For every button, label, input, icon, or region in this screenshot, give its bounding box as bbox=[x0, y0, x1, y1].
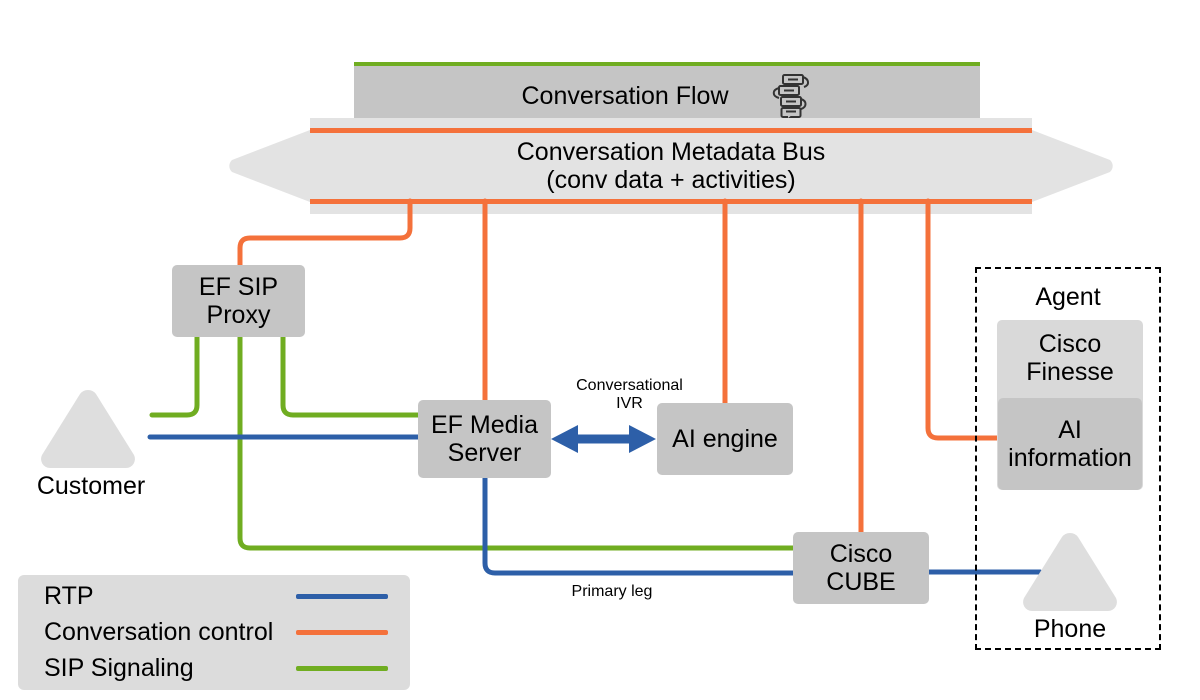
conversation-flow-label: Conversation Flow bbox=[521, 82, 728, 110]
conversational-ivr-label: Conversational IVR bbox=[542, 377, 717, 414]
conversational-ivr-line1: Conversational bbox=[576, 377, 683, 394]
ef-media-server-line2: Server bbox=[431, 439, 538, 467]
legend-label-conversation-control: Conversation control bbox=[44, 618, 273, 647]
cisco-finesse-line1: Cisco bbox=[997, 330, 1143, 358]
ai-engine-label: AI engine bbox=[672, 425, 778, 453]
bus-label-line1: Conversation Metadata Bus bbox=[517, 138, 826, 166]
ef-sip-proxy-node[interactable]: EF SIP Proxy bbox=[172, 265, 305, 337]
bus-label-line2: (conv data + activities) bbox=[546, 166, 795, 194]
conversational-ivr-arrow bbox=[551, 425, 656, 453]
legend-item-sip-signaling: SIP Signaling bbox=[44, 651, 388, 685]
cisco-finesse-line2: Finesse bbox=[997, 358, 1143, 386]
ef-sip-proxy-line1: EF SIP bbox=[199, 273, 278, 301]
ai-information-line1: AI bbox=[1058, 416, 1082, 444]
legend-item-rtp: RTP bbox=[44, 579, 388, 613]
legend-item-conversation-control: Conversation control bbox=[44, 615, 388, 649]
customer-triangle-icon bbox=[41, 390, 135, 468]
ai-information-node[interactable]: AI information bbox=[998, 398, 1142, 490]
legend-panel: RTP Conversation control SIP Signaling bbox=[18, 575, 410, 690]
primary-leg-label: Primary leg bbox=[527, 583, 697, 601]
ai-engine-node[interactable]: AI engine bbox=[657, 403, 793, 475]
conversation-metadata-bus-label: Conversation Metadata Bus (conv data + a… bbox=[228, 118, 1114, 214]
ai-information-line2: information bbox=[1008, 444, 1132, 472]
conversation-flow-box[interactable]: Conversation Flow bbox=[354, 62, 980, 128]
legend-label-sip-signaling: SIP Signaling bbox=[44, 654, 194, 683]
ef-media-server-node[interactable]: EF Media Server bbox=[418, 400, 551, 478]
conversation-flow-icon bbox=[769, 73, 813, 119]
agent-group-label: Agent bbox=[975, 283, 1161, 312]
legend-swatch-sip-signaling bbox=[296, 666, 388, 671]
ef-sip-proxy-line2: Proxy bbox=[199, 301, 278, 329]
legend-swatch-conversation-control bbox=[296, 630, 388, 635]
customer-endpoint-label: Customer bbox=[8, 472, 174, 501]
legend-label-rtp: RTP bbox=[44, 582, 94, 611]
conversational-ivr-line2: IVR bbox=[616, 395, 643, 412]
cisco-cube-line2: CUBE bbox=[826, 568, 895, 596]
architecture-diagram: Conversation Flow bbox=[0, 0, 1200, 700]
cisco-cube-node[interactable]: Cisco CUBE bbox=[793, 532, 929, 604]
ef-media-server-line1: EF Media bbox=[431, 411, 538, 439]
cisco-cube-line1: Cisco bbox=[826, 540, 895, 568]
phone-endpoint-label: Phone bbox=[990, 615, 1150, 644]
legend-swatch-rtp bbox=[296, 594, 388, 599]
